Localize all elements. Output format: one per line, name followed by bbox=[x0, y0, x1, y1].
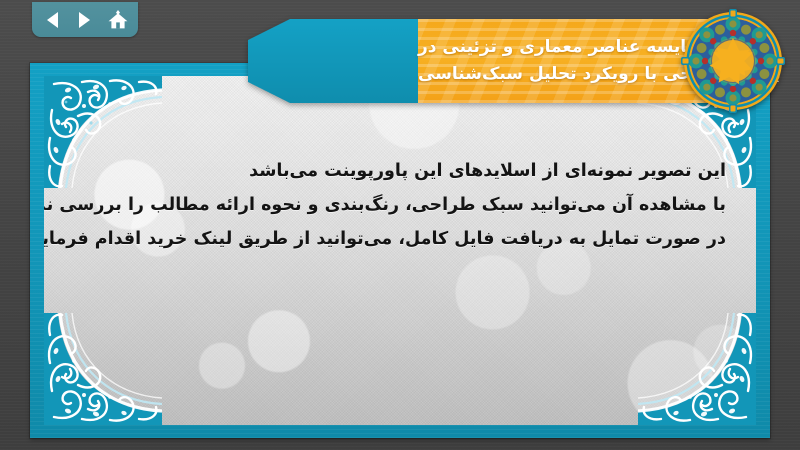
home-button[interactable] bbox=[107, 9, 129, 31]
slide-canvas: این تصویر نمونه‌ای از اسلایدهای این پاور… bbox=[44, 76, 756, 425]
previous-slide-button[interactable] bbox=[41, 9, 63, 31]
arabesque-corner-bottom-right-icon bbox=[638, 313, 756, 425]
title-banner: کامل مقایسه عناصر معماری و تزئینی در بنا… bbox=[118, 19, 753, 103]
slide-body-text: این تصویر نمونه‌ای از اسلایدهای این پاور… bbox=[72, 154, 726, 256]
triangle-right-icon bbox=[77, 11, 93, 29]
body-line-2: با مشاهده آن می‌توانید سبک طراحی، رنگ‌بن… bbox=[72, 188, 726, 222]
body-line-3: در صورت تمایل به دریافت فایل کامل، می‌تو… bbox=[72, 222, 726, 256]
slide-navigation-bar bbox=[32, 2, 138, 37]
arabesque-corner-bottom-left-icon bbox=[44, 313, 162, 425]
triangle-left-icon bbox=[44, 11, 60, 29]
slide-frame: این تصویر نمونه‌ای از اسلایدهای این پاور… bbox=[30, 63, 770, 438]
slide-viewer: این تصویر نمونه‌ای از اسلایدهای این پاور… bbox=[0, 0, 800, 450]
home-icon bbox=[108, 10, 128, 29]
ribbon-tail-arrow bbox=[118, 19, 420, 103]
persian-rosette-medallion-icon bbox=[681, 9, 785, 113]
body-line-1: این تصویر نمونه‌ای از اسلایدهای این پاور… bbox=[72, 154, 726, 188]
next-slide-button[interactable] bbox=[74, 9, 96, 31]
